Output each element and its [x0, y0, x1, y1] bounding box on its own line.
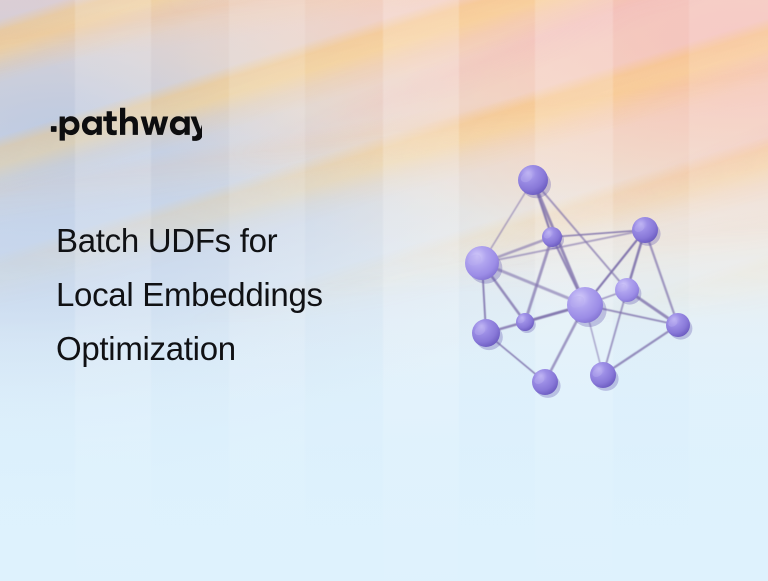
graph-edges [482, 180, 678, 382]
graph-edge [482, 230, 645, 263]
page-title: Batch UDFs for Local Embeddings Optimiza… [56, 214, 396, 376]
blog-card: Batch UDFs for Local Embeddings Optimiza… [0, 0, 768, 581]
network-graph-illustration [440, 140, 720, 420]
network-graph-svg [440, 140, 720, 420]
headline-line-2: Local Embeddings [56, 268, 396, 322]
pathway-wordmark-icon [50, 99, 202, 141]
graph-nodes [465, 165, 692, 398]
headline-line-3: Optimization [56, 322, 396, 376]
pathway-logo[interactable] [50, 99, 202, 141]
headline-line-1: Batch UDFs for [56, 214, 396, 268]
